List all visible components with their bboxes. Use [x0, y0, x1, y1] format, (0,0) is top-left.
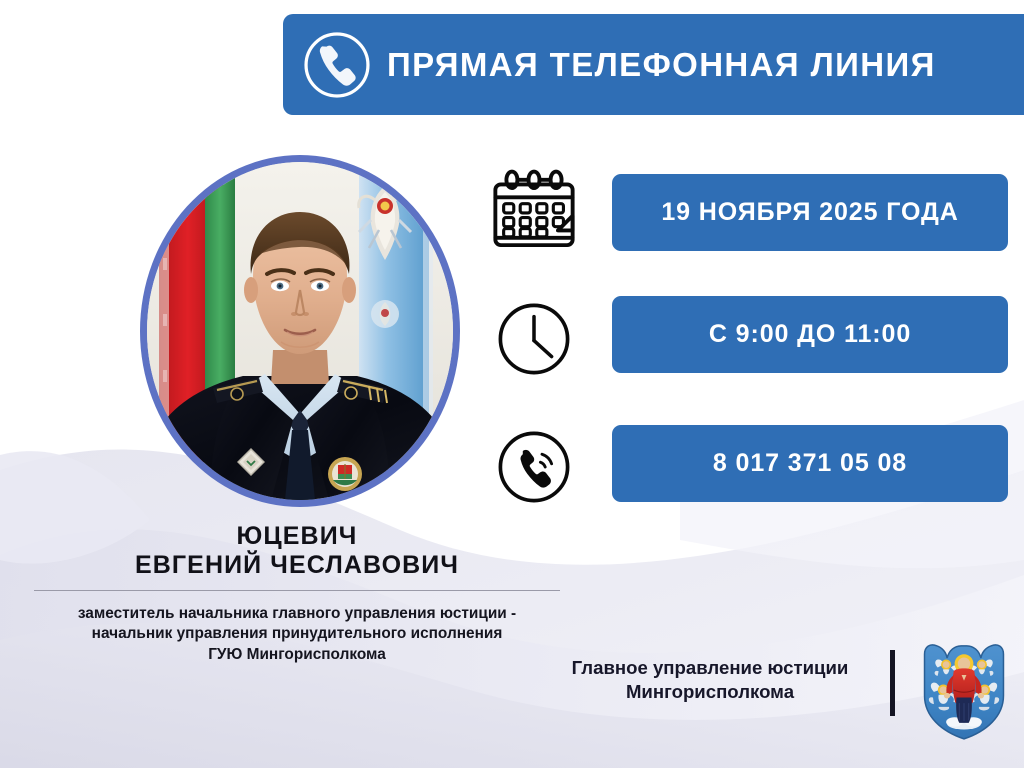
info-card-phone-value: 8 017 371 05 08 — [713, 449, 907, 478]
person-position-line-3: ГУЮ Мингорисполкома — [14, 645, 580, 666]
name-divider — [34, 590, 560, 591]
portrait-image-clip — [147, 162, 453, 500]
phone-circle-icon — [494, 427, 574, 507]
footer-organization: Главное управление юстиции Мингорисполко… — [545, 656, 875, 704]
phone-handset-circle-icon — [301, 29, 373, 101]
minsk-coat-of-arms-icon — [917, 637, 1011, 743]
calendar-icon — [488, 166, 580, 258]
person-given-name: ЕВГЕНИЙ ЧЕСЛАВОВИЧ — [14, 551, 580, 580]
person-position-line-2: начальник управления принудительного исп… — [14, 624, 580, 645]
person-position-line-1: заместитель начальника главного управлен… — [14, 604, 580, 625]
portrait-photo — [140, 155, 460, 507]
calendar-icon-slot — [480, 160, 588, 264]
header-title: ПРЯМАЯ ТЕЛЕФОННАЯ ЛИНИЯ — [387, 48, 936, 81]
footer-divider — [890, 650, 895, 716]
phone-icon-slot — [480, 423, 588, 511]
person-position: заместитель начальника главного управлен… — [14, 604, 580, 666]
clock-icon — [494, 299, 574, 379]
info-card-date: 19 НОЯБРЯ 2025 ГОДА — [612, 174, 1008, 251]
person-surname: ЮЦЕВИЧ — [14, 522, 580, 551]
info-card-time: С 9:00 ДО 11:00 — [612, 296, 1008, 373]
info-card-date-value: 19 НОЯБРЯ 2025 ГОДА — [661, 198, 958, 227]
footer-organization-line-2: Мингорисполкома — [545, 680, 875, 704]
footer-organization-line-1: Главное управление юстиции — [545, 656, 875, 680]
header-banner: ПРЯМАЯ ТЕЛЕФОННАЯ ЛИНИЯ — [283, 14, 1024, 115]
poster-canvas: ПРЯМАЯ ТЕЛЕФОННАЯ ЛИНИЯ — [0, 0, 1024, 768]
clock-icon-slot — [480, 295, 588, 383]
person-info-block: ЮЦЕВИЧ ЕВГЕНИЙ ЧЕСЛАВОВИЧ заместитель на… — [14, 522, 580, 665]
info-icon-column — [480, 160, 588, 505]
footer: Главное управление юстиции Мингорисполко… — [545, 650, 1024, 730]
info-card-time-value: С 9:00 ДО 11:00 — [709, 320, 911, 349]
info-card-phone: 8 017 371 05 08 — [612, 425, 1008, 502]
